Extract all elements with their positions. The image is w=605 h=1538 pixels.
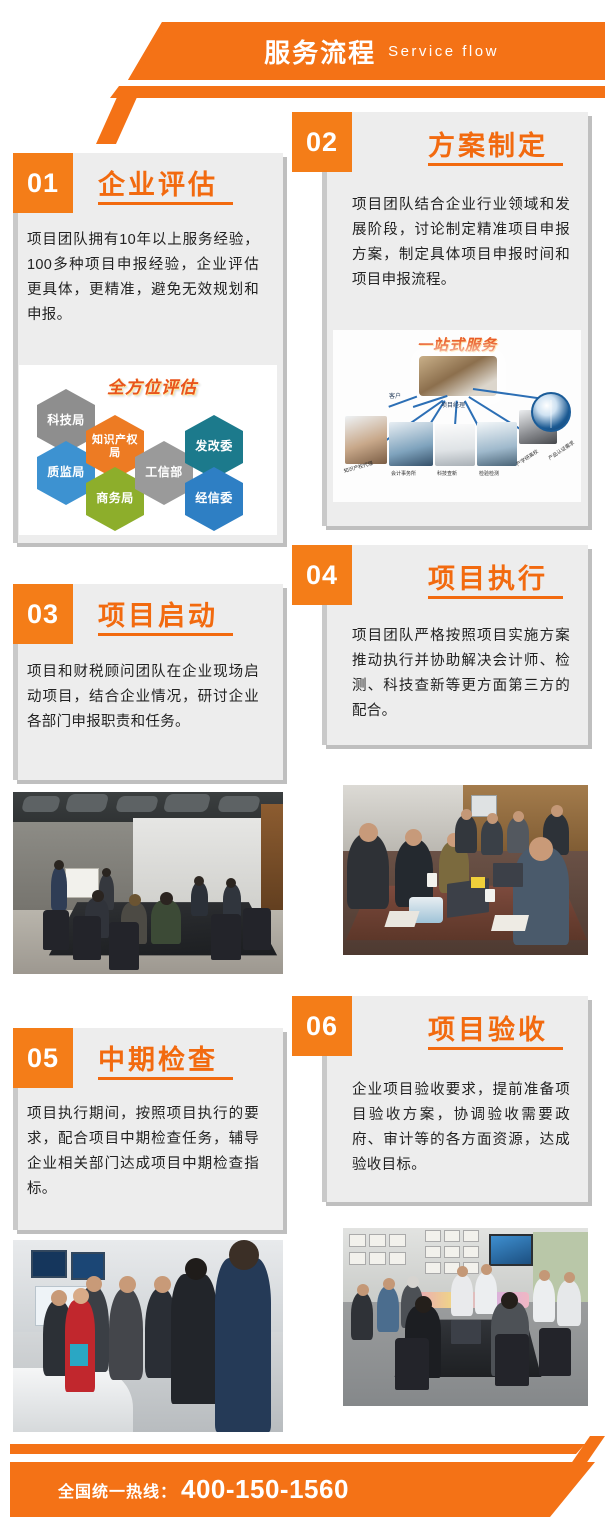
photo-chair	[211, 914, 241, 960]
one-stop-node-1	[389, 422, 433, 466]
one-stop-center-label-0: 客户	[389, 391, 401, 400]
photo-person-head	[529, 837, 553, 861]
photo-person	[351, 1292, 373, 1340]
photo-person	[191, 882, 208, 916]
photo-person	[507, 817, 529, 853]
working-session-photo	[343, 785, 588, 955]
card-03-body: 项目和财税顾问团队在企业现场启动项目，结合企业情况，研讨企业各部门申报职责和任务…	[27, 660, 259, 735]
meeting-room-photo	[13, 792, 283, 974]
photo-person	[481, 819, 503, 855]
card-04-title: 项目执行	[428, 557, 548, 596]
photo-person	[533, 1278, 555, 1322]
photo-cup	[485, 889, 495, 902]
card-06-body: 企业项目验收要求，提前准备项目验收方案，协调验收需要政府、审计等的各方面资源，达…	[352, 1078, 570, 1178]
one-stop-node-label-2: 科技查新	[437, 470, 457, 477]
card-02-title-rule	[428, 163, 563, 166]
ceiling-panel	[163, 794, 211, 812]
card-03-title: 项目启动	[98, 594, 218, 633]
photo-person-head	[154, 1276, 171, 1293]
ceiling-panel	[217, 796, 261, 812]
site-visit-photo	[13, 1240, 283, 1432]
photo-person	[51, 866, 67, 910]
photo-person-head	[383, 1278, 395, 1290]
photo-person	[475, 1272, 497, 1314]
photo-display-screen	[31, 1250, 67, 1278]
photo-person	[347, 833, 389, 909]
photo-person-head	[92, 890, 104, 902]
card-03-title-rule	[98, 633, 233, 636]
photo-person	[377, 1286, 399, 1332]
one-stop-center-label-1: 项目经理	[441, 400, 465, 409]
photo-chair	[495, 1334, 529, 1386]
photo-certificate	[463, 1246, 479, 1258]
ceiling-panel	[115, 796, 159, 812]
photo-laptop	[493, 863, 523, 887]
card-02-body: 项目团队结合企业行业领域和发展阶段，讨论制定精准项目申报方案，制定具体项目申报时…	[352, 193, 570, 293]
photo-person-head	[539, 1270, 550, 1281]
photo-person-head	[185, 1258, 207, 1280]
photo-chair	[73, 916, 101, 960]
photo-certificate	[349, 1252, 366, 1265]
footer-hotline-group: 全国统一热线： 400-150-1560	[58, 1462, 349, 1517]
one-stop-node-2	[435, 424, 475, 466]
photo-presentation-screen	[489, 1234, 533, 1266]
card-01-title-rule	[98, 202, 233, 205]
one-stop-node-label-1: 会计事务所	[391, 470, 416, 477]
card-04-title-rule	[428, 596, 563, 599]
photo-person-head	[194, 876, 204, 886]
photo-person	[223, 884, 241, 918]
photo-person-head	[407, 1276, 419, 1288]
photo-chair	[43, 910, 69, 950]
photo-person-head	[513, 811, 524, 822]
ceiling-panel	[65, 794, 109, 812]
photo-person-head	[160, 892, 173, 905]
photo-person-head	[54, 860, 64, 870]
photo-person-head	[359, 823, 378, 842]
card-04-number: 04	[292, 545, 352, 605]
one-stop-service-diagram: 一站式服务 客户 项目经理 知识产权代理 会计事务所 科技查新 检验检测 产学研…	[333, 330, 581, 502]
photo-person-head	[457, 1266, 468, 1277]
header-title-group: 服务流程 Service flow	[128, 22, 605, 80]
photo-person	[455, 815, 477, 853]
card-02-number: 02	[292, 112, 352, 172]
photo-person	[109, 1288, 143, 1380]
photo-certificate	[425, 1230, 441, 1242]
photo-certificate	[444, 1246, 460, 1258]
photo-person-head	[129, 894, 141, 906]
photo-certificate	[389, 1234, 406, 1247]
photo-person-head	[415, 1296, 432, 1313]
photo-person-head	[73, 1288, 89, 1304]
photo-person-head	[86, 1276, 102, 1292]
card-06-title: 项目验收	[428, 1008, 548, 1047]
photo-person-head	[501, 1292, 518, 1309]
photo-person-head	[102, 868, 111, 877]
photo-chair	[539, 1328, 571, 1376]
photo-paper	[491, 915, 529, 931]
photo-certificate	[463, 1230, 479, 1242]
photo-person-head	[51, 1290, 67, 1306]
card-02-title: 方案制定	[428, 124, 548, 163]
photo-person	[451, 1274, 473, 1316]
one-stop-node-label-3: 检验检测	[479, 470, 499, 477]
photo-person-foreground	[171, 1274, 217, 1404]
photo-wood-panel	[261, 804, 283, 922]
photo-person-head	[487, 813, 498, 824]
card-04-body: 项目团队严格按照项目实施方案推动执行并协助解决会计师、检测、科技查新等更方面第三…	[352, 624, 570, 724]
hexagon-figure-title: 全方位评估	[107, 373, 197, 398]
one-stop-node-label-4: 产学研高校	[515, 448, 540, 468]
page-footer: 全国统一热线： 400-150-1560	[0, 1428, 605, 1538]
photo-chair	[395, 1338, 429, 1390]
photo-person-head	[229, 1240, 259, 1270]
card-06-number: 06	[292, 996, 352, 1056]
photo-certificate	[349, 1234, 366, 1247]
card-05-body: 项目执行期间，按照项目执行的要求，配合项目中期检查任务，辅导企业相关部门达成项目…	[27, 1102, 259, 1202]
photo-person-foreground	[215, 1258, 271, 1432]
one-stop-title: 一站式服务	[333, 334, 581, 355]
photo-laptop	[451, 1320, 481, 1344]
photo-display-screen	[71, 1252, 105, 1280]
photo-sticky-note	[471, 877, 485, 888]
photo-cup	[427, 873, 437, 887]
photo-certificate	[444, 1230, 460, 1242]
hotline-number[interactable]: 400-150-1560	[181, 1474, 349, 1505]
photo-certificate	[369, 1234, 386, 1247]
card-01-title: 企业评估	[98, 163, 218, 202]
one-stop-node-0	[345, 416, 387, 464]
hexagon-assessment-diagram: 全方位评估 科技局 质监局 知识产权局 商务局 工信部 发改委 经信委	[19, 365, 277, 535]
one-stop-node-3	[477, 422, 517, 466]
photo-certificate	[389, 1252, 406, 1265]
photo-person-head	[564, 1272, 575, 1283]
card-03-number: 03	[13, 584, 73, 644]
footer-accent-stripe	[10, 1444, 585, 1454]
hex-node-6: 经信委	[185, 467, 243, 531]
acceptance-meeting-photo	[343, 1228, 588, 1406]
photo-person-head	[357, 1284, 369, 1296]
ceiling-panel	[21, 796, 61, 812]
photo-person	[557, 1280, 581, 1326]
card-06-title-rule	[428, 1047, 563, 1050]
certification-seal-icon	[531, 392, 571, 432]
photo-brochure	[70, 1344, 88, 1366]
hotline-label: 全国统一热线：	[58, 1478, 177, 1502]
photo-person-head	[551, 805, 563, 817]
header-accent-stripe	[110, 86, 605, 98]
photo-person-head	[119, 1276, 136, 1293]
photo-certificate	[425, 1262, 441, 1274]
photo-person-head	[226, 878, 236, 888]
photo-person-head	[461, 809, 472, 820]
page-subtitle: Service flow	[388, 43, 499, 60]
card-01-number: 01	[13, 153, 73, 213]
photo-paper	[384, 911, 419, 927]
card-05-number: 05	[13, 1028, 73, 1088]
card-01-body: 项目团队拥有10年以上服务经验，100多种项目申报经验，企业评估更具体，更精准，…	[27, 228, 259, 328]
photo-chair	[109, 922, 139, 970]
page-title: 服务流程	[264, 33, 376, 70]
card-05-title: 中期检查	[98, 1038, 218, 1077]
photo-chair	[243, 908, 271, 950]
photo-person	[151, 900, 181, 944]
photo-person-head	[405, 829, 422, 846]
photo-certificate	[425, 1246, 441, 1258]
card-05-title-rule	[98, 1077, 233, 1080]
page-header: 服务流程 Service flow	[0, 0, 605, 110]
photo-person-head	[481, 1264, 492, 1275]
photo-certificate	[369, 1252, 386, 1265]
